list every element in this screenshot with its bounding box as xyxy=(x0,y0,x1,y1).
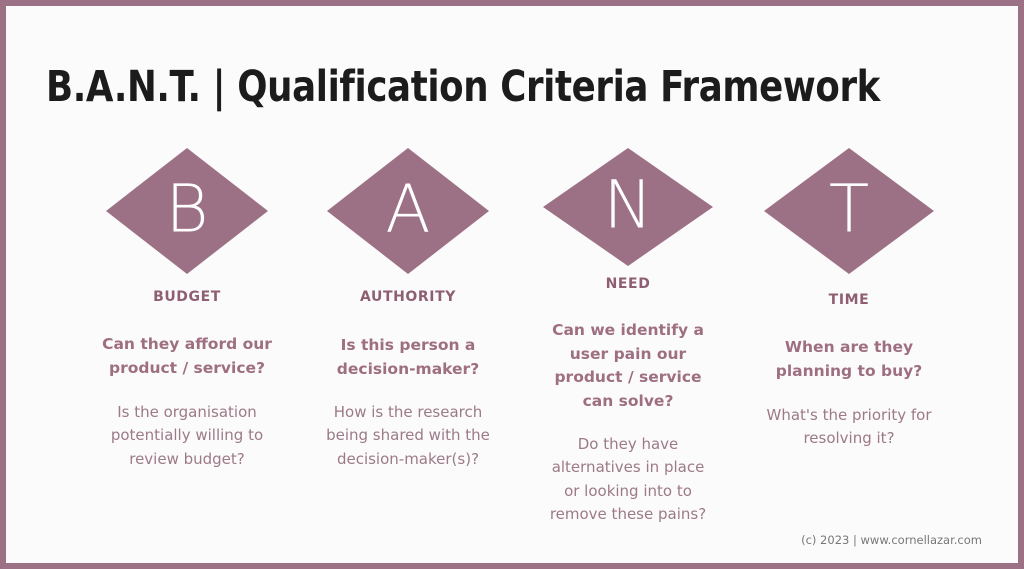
text-line: decision-maker(s)? xyxy=(293,448,523,471)
diamond-letter-budget: B xyxy=(106,177,268,243)
category-label-time: TIME xyxy=(734,292,964,308)
diamond-wrap-authority: A xyxy=(327,148,489,274)
diamond-wrap-need: N xyxy=(543,148,713,266)
primary-question-authority: Is this person a decision-maker? xyxy=(293,334,523,381)
text-line: product / service? xyxy=(72,357,302,381)
secondary-question-authority: How is the research being shared with th… xyxy=(293,401,523,471)
text-line: alternatives in place xyxy=(518,456,738,479)
secondary-question-need: Do they have alternatives in place or lo… xyxy=(518,433,738,526)
text-line: planning to buy? xyxy=(734,360,964,384)
bant-columns: B BUDGET Can they afford our product / s… xyxy=(6,6,1018,563)
text-line: product / service xyxy=(518,366,738,390)
text-line: Is this person a xyxy=(293,334,523,358)
diamond-letter-need: N xyxy=(543,173,713,239)
slide-canvas: B.A.N.T. | Qualification Criteria Framew… xyxy=(0,0,1024,569)
secondary-question-budget: Is the organisation potentially willing … xyxy=(72,401,302,471)
category-label-budget: BUDGET xyxy=(72,289,302,305)
text-line: user pain our xyxy=(518,343,738,367)
text-line: remove these pains? xyxy=(518,503,738,526)
text-line: When are they xyxy=(734,336,964,360)
footer-copyright: (c) 2023 | www.cornellazar.com xyxy=(801,533,982,547)
text-line: Do they have xyxy=(518,433,738,456)
diamond-wrap-time: T xyxy=(764,148,934,274)
category-label-authority: AUTHORITY xyxy=(293,289,523,305)
text-line: Is the organisation xyxy=(72,401,302,424)
text-line: Can they afford our xyxy=(72,333,302,357)
diamond-shape-need: N xyxy=(543,148,713,266)
text-line: can solve? xyxy=(518,390,738,414)
text-line: decision-maker? xyxy=(293,358,523,382)
diamond-shape-authority: A xyxy=(327,148,489,274)
category-label-need: NEED xyxy=(518,276,738,292)
text-line: Can we identify a xyxy=(518,319,738,343)
primary-question-budget: Can they afford our product / service? xyxy=(72,333,302,380)
primary-question-need: Can we identify a user pain our product … xyxy=(518,319,738,413)
diamond-shape-time: T xyxy=(764,148,934,274)
primary-question-time: When are they planning to buy? xyxy=(734,336,964,383)
diamond-letter-authority: A xyxy=(327,177,489,243)
text-line: being shared with the xyxy=(293,424,523,447)
text-line: resolving it? xyxy=(734,427,964,450)
text-line: What's the priority for xyxy=(734,404,964,427)
diamond-shape-budget: B xyxy=(106,148,268,274)
text-line: review budget? xyxy=(72,448,302,471)
text-line: potentially willing to xyxy=(72,424,302,447)
text-line: or looking into to xyxy=(518,480,738,503)
secondary-question-time: What's the priority for resolving it? xyxy=(734,404,964,451)
diamond-wrap-budget: B xyxy=(106,148,268,274)
diamond-letter-time: T xyxy=(764,177,934,243)
text-line: How is the research xyxy=(293,401,523,424)
